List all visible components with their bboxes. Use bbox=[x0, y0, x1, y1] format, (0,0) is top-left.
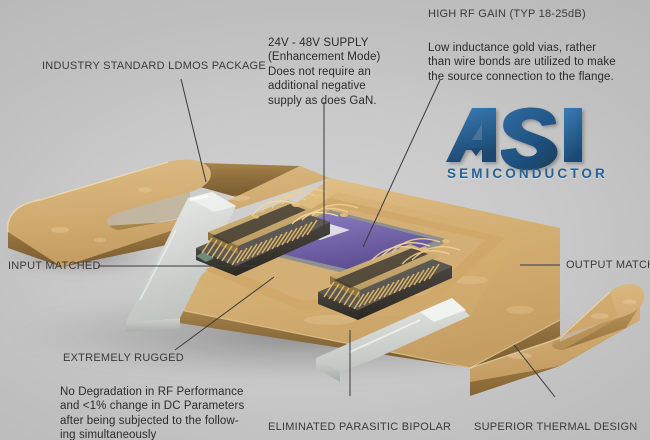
callout-industry-standard: INDUSTRY STANDARD LDMOS PACKAGE bbox=[42, 60, 272, 73]
callout-superior-thermal: SUPERIOR THERMAL DESIGN bbox=[474, 421, 650, 434]
callout-high-rf-gain: HIGH RF GAIN (TYP 18-25dB) bbox=[428, 8, 643, 21]
diagram-canvas: SEMICONDUCTOR INDUSTRY STANDARD LDMOS PA… bbox=[0, 0, 650, 440]
asi-logo: SEMICONDUCTOR bbox=[438, 104, 610, 192]
asi-logo-tagline: SEMICONDUCTOR bbox=[447, 166, 608, 181]
callout-output-matched: OUTPUT MATCHED bbox=[566, 259, 650, 272]
callout-eliminated-parasitic: ELIMINATED PARASITIC BIPOLAR bbox=[268, 421, 478, 434]
callout-supply: 24V - 48V SUPPLY (Enhancement Mode) Does… bbox=[268, 36, 408, 108]
callout-input-matched: INPUT MATCHED bbox=[8, 260, 128, 273]
callout-extremely-rugged: EXTREMELY RUGGED bbox=[63, 352, 243, 365]
callout-gold-vias: Low inductance gold vias, rather than wi… bbox=[428, 41, 643, 84]
callout-no-degradation: No Degradation in RF Performance and <1%… bbox=[60, 385, 275, 440]
